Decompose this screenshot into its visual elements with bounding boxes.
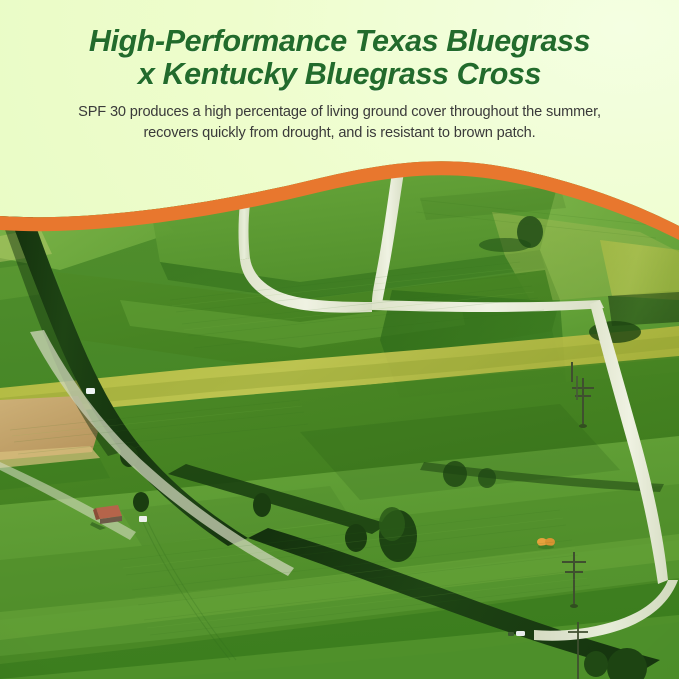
banner-header: High-Performance Texas Bluegrass x Kentu… xyxy=(0,0,679,175)
page-title: High-Performance Texas Bluegrass x Kentu… xyxy=(0,25,679,91)
subtitle-line-1: SPF 30 produces a high percentage of liv… xyxy=(0,102,679,123)
product-banner: High-Performance Texas Bluegrass x Kentu… xyxy=(0,0,679,679)
title-line-1: High-Performance Texas Bluegrass xyxy=(0,25,679,58)
subtitle-line-2: recovers quickly from drought, and is re… xyxy=(0,123,679,144)
title-line-2: x Kentucky Bluegrass Cross xyxy=(0,58,679,91)
banner-subtitle: SPF 30 produces a high percentage of liv… xyxy=(0,102,679,143)
